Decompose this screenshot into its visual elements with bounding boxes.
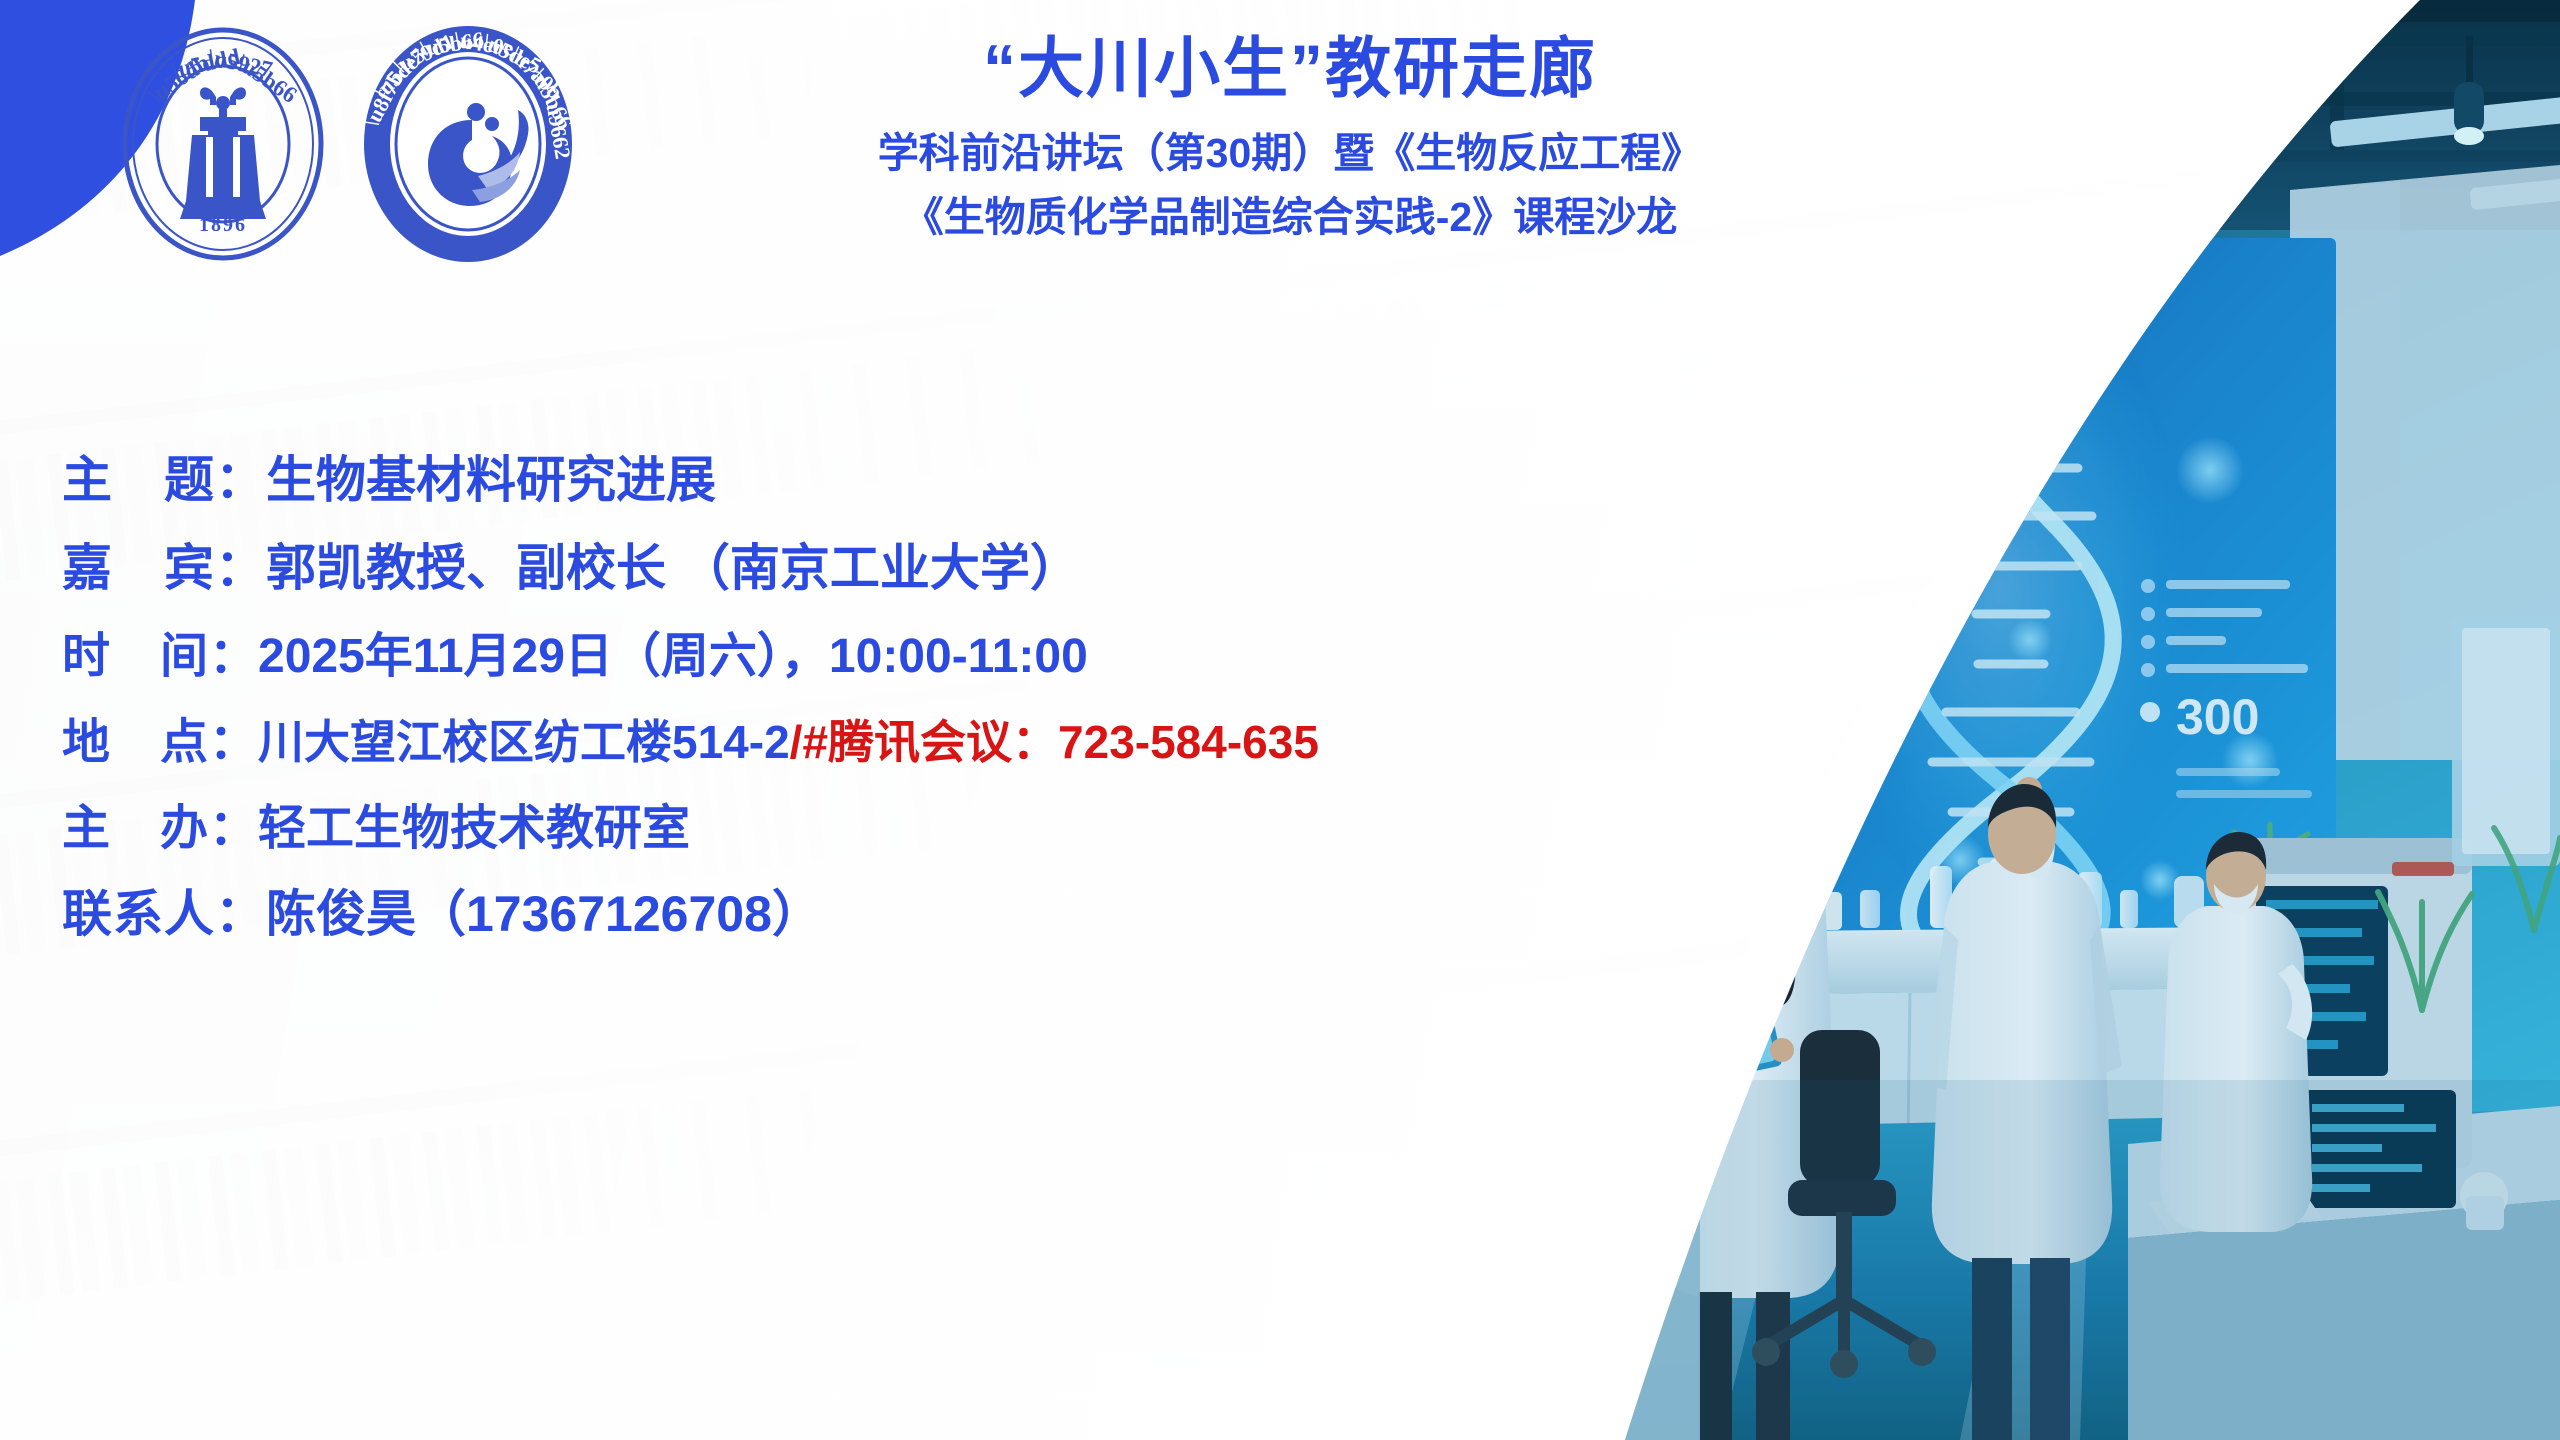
detail-row-contact: 联系人： 陈俊昊（17367126708） xyxy=(62,874,1682,946)
detail-value-contact: 陈俊昊（17367126708） xyxy=(266,874,822,946)
detail-value-meeting-id: /#腾讯会议：723-584-635 xyxy=(790,706,1319,772)
detail-value-topic: 生物基材料研究进展 xyxy=(266,440,716,512)
detail-label-topic: 主 题： xyxy=(62,440,266,512)
detail-label-organizer: 主 办： xyxy=(62,788,258,858)
svg-text:1896: 1896 xyxy=(199,214,247,236)
detail-value-location: 川大望江校区纺工楼514-2 xyxy=(258,706,790,772)
detail-value-time: 2025年11月29日（周六），10:00-11:00 xyxy=(258,616,1088,686)
detail-label-location: 地 点： xyxy=(62,702,258,772)
detail-row-location: 地 点： 川大望江校区纺工楼514-2 /#腾讯会议：723-584-635 xyxy=(62,702,1682,772)
logo-group: \u56db \u5ddd \u5927 \u5b66 xyxy=(120,24,576,269)
subtitle-line-1: 学科前沿讲坛（第30期）暨《生物反应工程》 xyxy=(690,122,1890,186)
detail-value-organizer: 轻工生物技术教研室 xyxy=(258,788,690,858)
event-details-list: 主 题： 生物基材料研究进展 嘉 宾： 郭凯教授、副校长 （南京工业大学） 时 … xyxy=(62,440,1682,962)
detail-label-time: 时 间： xyxy=(62,616,258,686)
title-block: “大川小生”教研走廊 学科前沿讲坛（第30期）暨《生物反应工程》 《生物质化学品… xyxy=(690,26,1890,250)
detail-row-topic: 主 题： 生物基材料研究进展 xyxy=(62,440,1682,512)
detail-row-organizer: 主 办： 轻工生物技术教研室 xyxy=(62,788,1682,858)
page-title: “大川小生”教研走廊 xyxy=(690,26,1890,110)
sichuan-university-logo: \u56db \u5ddd \u5927 \u5b66 xyxy=(120,25,326,268)
detail-row-time: 时 间： 2025年11月29日（周六），10:00-11:00 xyxy=(62,616,1682,686)
subtitle-line-2: 《生物质化学品制造综合实践-2》课程沙龙 xyxy=(690,186,1890,250)
college-of-biomass-logo: \u8f7b \u5de5 \u79d1 \u5b66 \u4e0e \u5de… xyxy=(360,24,576,269)
poster-canvas: 300 xyxy=(0,0,2560,1440)
detail-row-speaker: 嘉 宾： 郭凯教授、副校长 （南京工业大学） xyxy=(62,528,1682,600)
detail-label-speaker: 嘉 宾： xyxy=(62,528,266,600)
detail-value-speaker: 郭凯教授、副校长 （南京工业大学） xyxy=(266,528,1080,600)
detail-label-contact: 联系人： xyxy=(62,874,266,946)
